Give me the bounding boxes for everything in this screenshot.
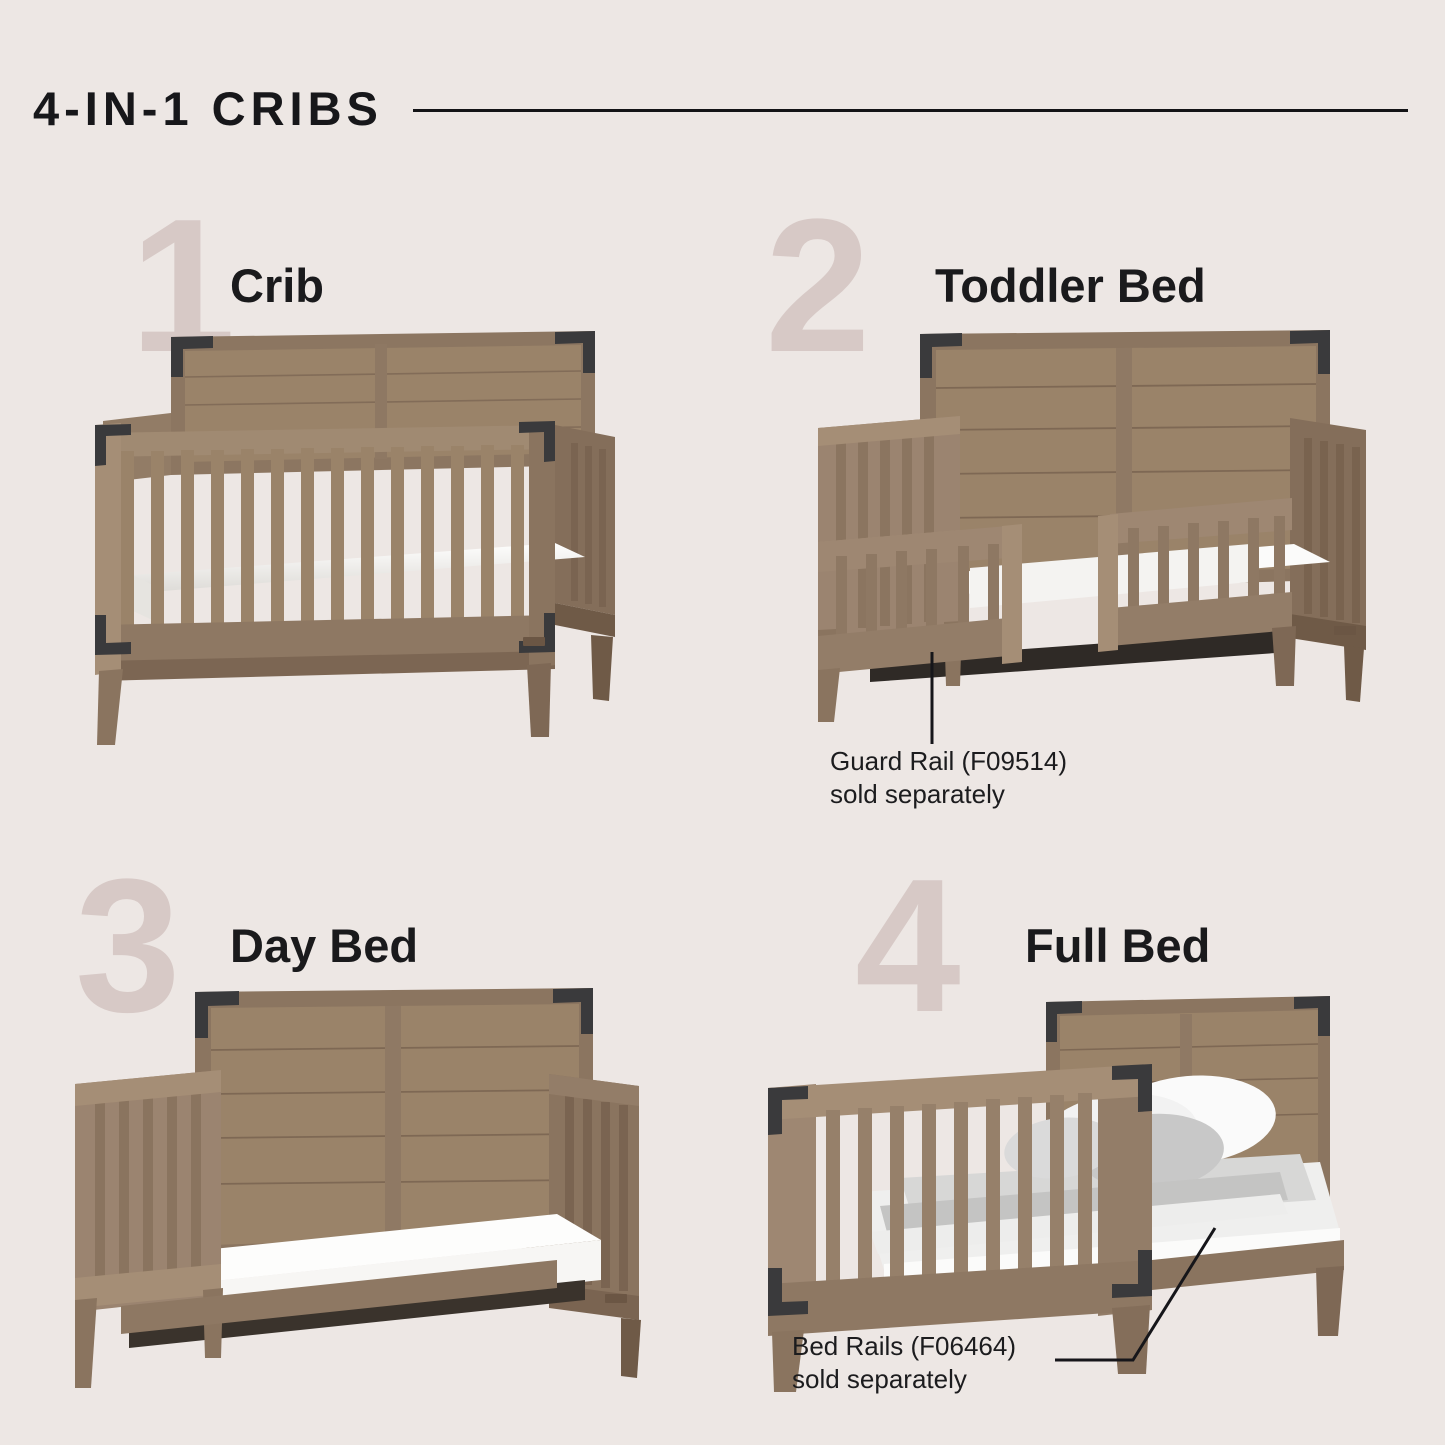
page-header: 4-IN-1 CRIBS [33,78,1408,138]
toddler-leg-left [818,668,840,722]
toddler-leg-rear [1344,646,1364,702]
panel-title-crib: Crib [230,262,324,309]
crib-leg-rear [591,635,613,701]
panel-title-full-bed: Full Bed [1025,922,1210,969]
panel-day-bed: 3 Day Bed [30,860,690,1420]
guard-rail-leader-line [922,652,942,747]
panel-full-bed: 4 Full Bed [730,860,1420,1420]
panel-toddler-bed: 2 Toddler Bed [730,200,1420,820]
panel-crib: 1 Crib [30,200,690,800]
header-divider [413,109,1408,112]
toddler-bed-illustration [810,330,1410,750]
fullbed-leg-rear [1316,1266,1344,1336]
toddler-leg-right [1272,626,1296,686]
toddler-right-end [1290,418,1366,650]
crib-leg-right [527,663,551,737]
page-title: 4-IN-1 CRIBS [33,85,383,132]
crib-illustration [85,325,645,755]
panel-title-toddler-bed: Toddler Bed [935,262,1206,309]
crib-leg-left [97,669,123,745]
guard-rail-caption: Guard Rail (F09514) sold separately [830,745,1067,812]
panel-title-day-bed: Day Bed [230,922,418,969]
day-bed-illustration [65,988,685,1408]
crib-right-side [555,425,615,637]
bed-rails-leader-line [1055,1220,1225,1370]
crib-front-slats [121,445,524,641]
bed-rails-caption: Bed Rails (F06464) sold separately [792,1330,1016,1397]
infographic-page: 4-IN-1 CRIBS 1 Crib [0,0,1445,1445]
